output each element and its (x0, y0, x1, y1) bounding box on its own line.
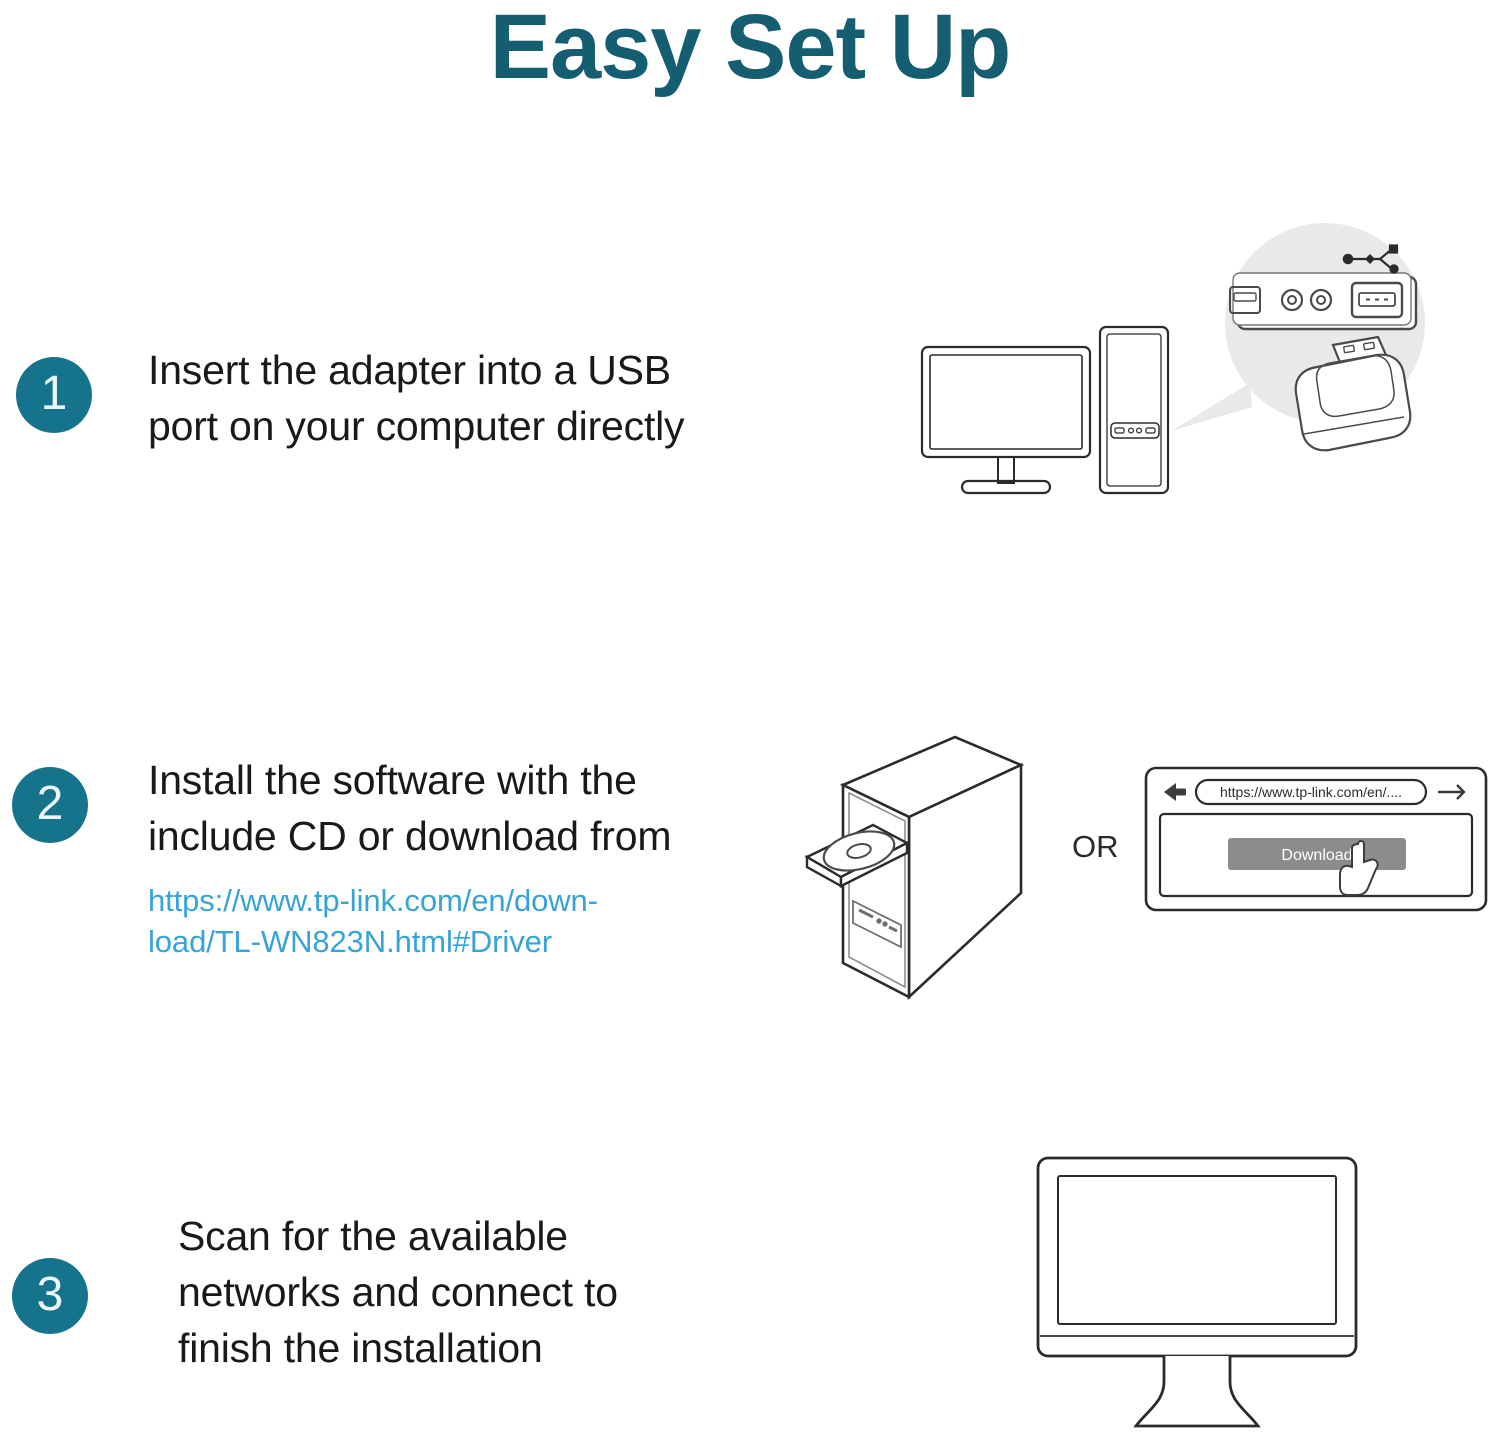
step-3-text: Scan for the available networks and conn… (178, 1208, 818, 1376)
step-3-badge: 3 (12, 1258, 88, 1334)
step-3-illustration (1030, 1150, 1380, 1450)
step-3-row: 3 Scan for the available networks and co… (0, 0, 1500, 1451)
infographic-page: Easy Set Up 1 Insert the adapter into a … (0, 0, 1500, 1451)
monitor-icon (1030, 1150, 1380, 1450)
